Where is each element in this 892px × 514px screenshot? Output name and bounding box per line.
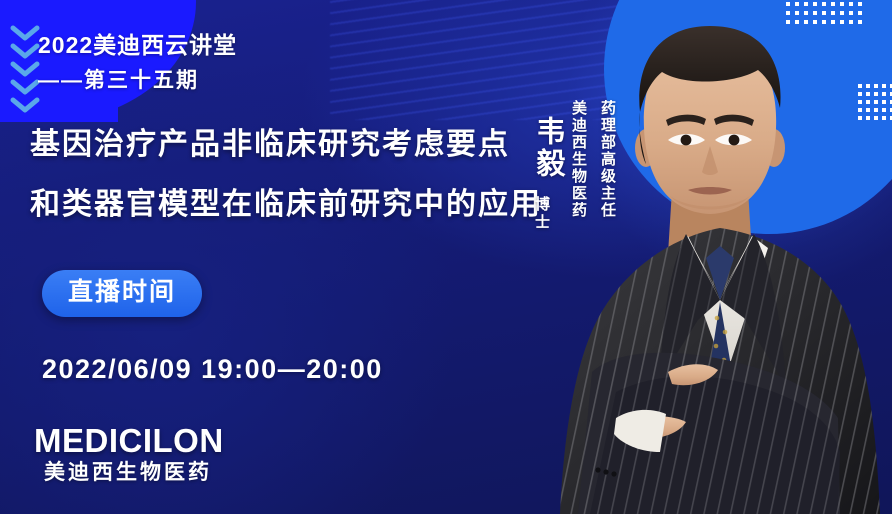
speaker-portrait-photo [520, 0, 892, 514]
webinar-promo-banner: 2022美迪西云讲堂 ——第三十五期 基因治疗产品非临床研究考虑要点 和类器官模… [0, 0, 892, 514]
series-title: 2022美迪西云讲堂 [38, 34, 237, 57]
chevron-stack [8, 24, 42, 110]
logo-english: MEDICILON [34, 424, 224, 457]
broadcast-datetime: 2022/06/09 19:00—20:00 [42, 356, 383, 383]
live-time-badge: 直播时间 [42, 270, 202, 317]
logo-chinese: 美迪西生物医药 [44, 462, 212, 483]
webinar-title-line-2: 和类器官模型在临床前研究中的应用 [30, 190, 542, 220]
series-episode: ——第三十五期 [38, 70, 199, 91]
webinar-title-line-1: 基因治疗产品非临床研究考虑要点 [30, 130, 510, 160]
